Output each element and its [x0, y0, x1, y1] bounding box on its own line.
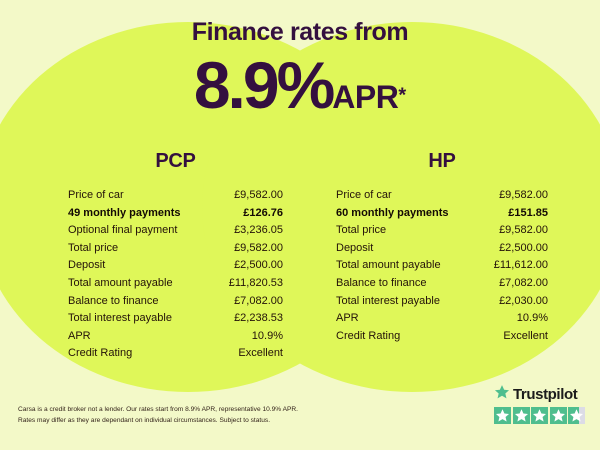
trustpilot-star-icon — [568, 407, 585, 424]
row-label: Deposit — [336, 240, 373, 258]
row-value: £7,082.00 — [499, 275, 548, 293]
disclaimer-text: Carsa is a credit broker not a lender. O… — [18, 404, 348, 426]
row-label: Optional final payment — [68, 222, 177, 240]
row-value: £7,082.00 — [234, 293, 283, 311]
row-value: £9,582.00 — [234, 187, 283, 205]
headline-asterisk: * — [398, 85, 406, 107]
row-label: Total price — [336, 222, 386, 240]
row-value: Excellent — [503, 328, 548, 346]
table-row: Total amount payable£11,612.00 — [336, 257, 548, 275]
table-row: Credit RatingExcellent — [336, 328, 548, 346]
table-row: 49 monthly payments£126.76 — [68, 205, 283, 223]
trustpilot-star-rating — [494, 407, 590, 424]
table-row: Balance to finance£7,082.00 — [68, 293, 283, 311]
page-title: Finance rates from — [0, 18, 600, 47]
table-row: Total price£9,582.00 — [68, 240, 283, 258]
headline-rate-value: 8.9% — [194, 48, 332, 122]
table-row: Total price£9,582.00 — [336, 222, 548, 240]
row-label: Balance to finance — [68, 293, 159, 311]
row-value: £126.76 — [243, 205, 283, 223]
disclaimer-line-1: Carsa is a credit broker not a lender. O… — [18, 404, 348, 415]
row-label: Deposit — [68, 257, 105, 275]
table-row: Price of car£9,582.00 — [68, 187, 283, 205]
row-label: Price of car — [336, 187, 392, 205]
row-value: £9,582.00 — [234, 240, 283, 258]
column-heading-hp: HP — [336, 150, 548, 173]
row-label: Credit Rating — [336, 328, 400, 346]
table-row: Price of car£9,582.00 — [336, 187, 548, 205]
finance-rows-pcp: Price of car£9,582.0049 monthly payments… — [68, 187, 283, 363]
table-row: Optional final payment£3,236.05 — [68, 222, 283, 240]
row-label: Total amount payable — [336, 257, 441, 275]
row-value: £9,582.00 — [499, 222, 548, 240]
finance-column-hp: HP Price of car£9,582.0060 monthly payme… — [336, 150, 548, 345]
table-row: Total amount payable£11,820.53 — [68, 275, 283, 293]
row-value: 10.9% — [252, 328, 283, 346]
finance-rates-poster: Finance rates from 8.9%APR* PCP Price of… — [0, 0, 600, 450]
row-label: Total interest payable — [336, 293, 440, 311]
row-label: Balance to finance — [336, 275, 427, 293]
trustpilot-star-icon — [494, 384, 510, 405]
trustpilot-star-icon — [513, 407, 530, 424]
row-value: £2,500.00 — [234, 257, 283, 275]
row-label: 49 monthly payments — [68, 205, 180, 223]
headline-rate: 8.9%APR* — [0, 52, 600, 118]
table-row: APR10.9% — [68, 328, 283, 346]
row-label: APR — [68, 328, 91, 346]
table-row: Deposit£2,500.00 — [68, 257, 283, 275]
row-label: Total interest payable — [68, 310, 172, 328]
row-value: £2,500.00 — [499, 240, 548, 258]
poster-content: Finance rates from 8.9%APR* PCP Price of… — [0, 0, 600, 450]
row-value: Excellent — [238, 345, 283, 363]
row-value: £11,612.00 — [494, 257, 548, 275]
trustpilot-label: Trustpilot — [513, 387, 577, 402]
trustpilot-star-icon — [494, 407, 511, 424]
row-value: £9,582.00 — [499, 187, 548, 205]
table-row: Total interest payable£2,030.00 — [336, 293, 548, 311]
trustpilot-wordmark: Trustpilot — [494, 384, 590, 404]
disclaimer-line-2: Rates may differ as they are dependant o… — [18, 415, 348, 426]
trustpilot-badge[interactable]: Trustpilot — [494, 384, 590, 424]
table-row: APR10.9% — [336, 310, 548, 328]
table-row: Deposit£2,500.00 — [336, 240, 548, 258]
table-row: Balance to finance£7,082.00 — [336, 275, 548, 293]
trustpilot-star-icon — [550, 407, 567, 424]
row-label: 60 monthly payments — [336, 205, 448, 223]
row-value: £151.85 — [508, 205, 548, 223]
trustpilot-star-icon — [531, 407, 548, 424]
finance-column-pcp: PCP Price of car£9,582.0049 monthly paym… — [68, 150, 283, 363]
table-row: 60 monthly payments£151.85 — [336, 205, 548, 223]
row-label: Credit Rating — [68, 345, 132, 363]
column-heading-pcp: PCP — [68, 150, 283, 173]
row-value: £2,030.00 — [499, 293, 548, 311]
table-row: Credit RatingExcellent — [68, 345, 283, 363]
headline-rate-unit: APR — [332, 79, 398, 115]
finance-rows-hp: Price of car£9,582.0060 monthly payments… — [336, 187, 548, 345]
row-value: 10.9% — [517, 310, 548, 328]
row-label: Total amount payable — [68, 275, 173, 293]
row-value: £2,238.53 — [234, 310, 283, 328]
row-label: APR — [336, 310, 359, 328]
row-value: £3,236.05 — [234, 222, 283, 240]
row-label: Total price — [68, 240, 118, 258]
row-label: Price of car — [68, 187, 124, 205]
table-row: Total interest payable£2,238.53 — [68, 310, 283, 328]
row-value: £11,820.53 — [229, 275, 283, 293]
